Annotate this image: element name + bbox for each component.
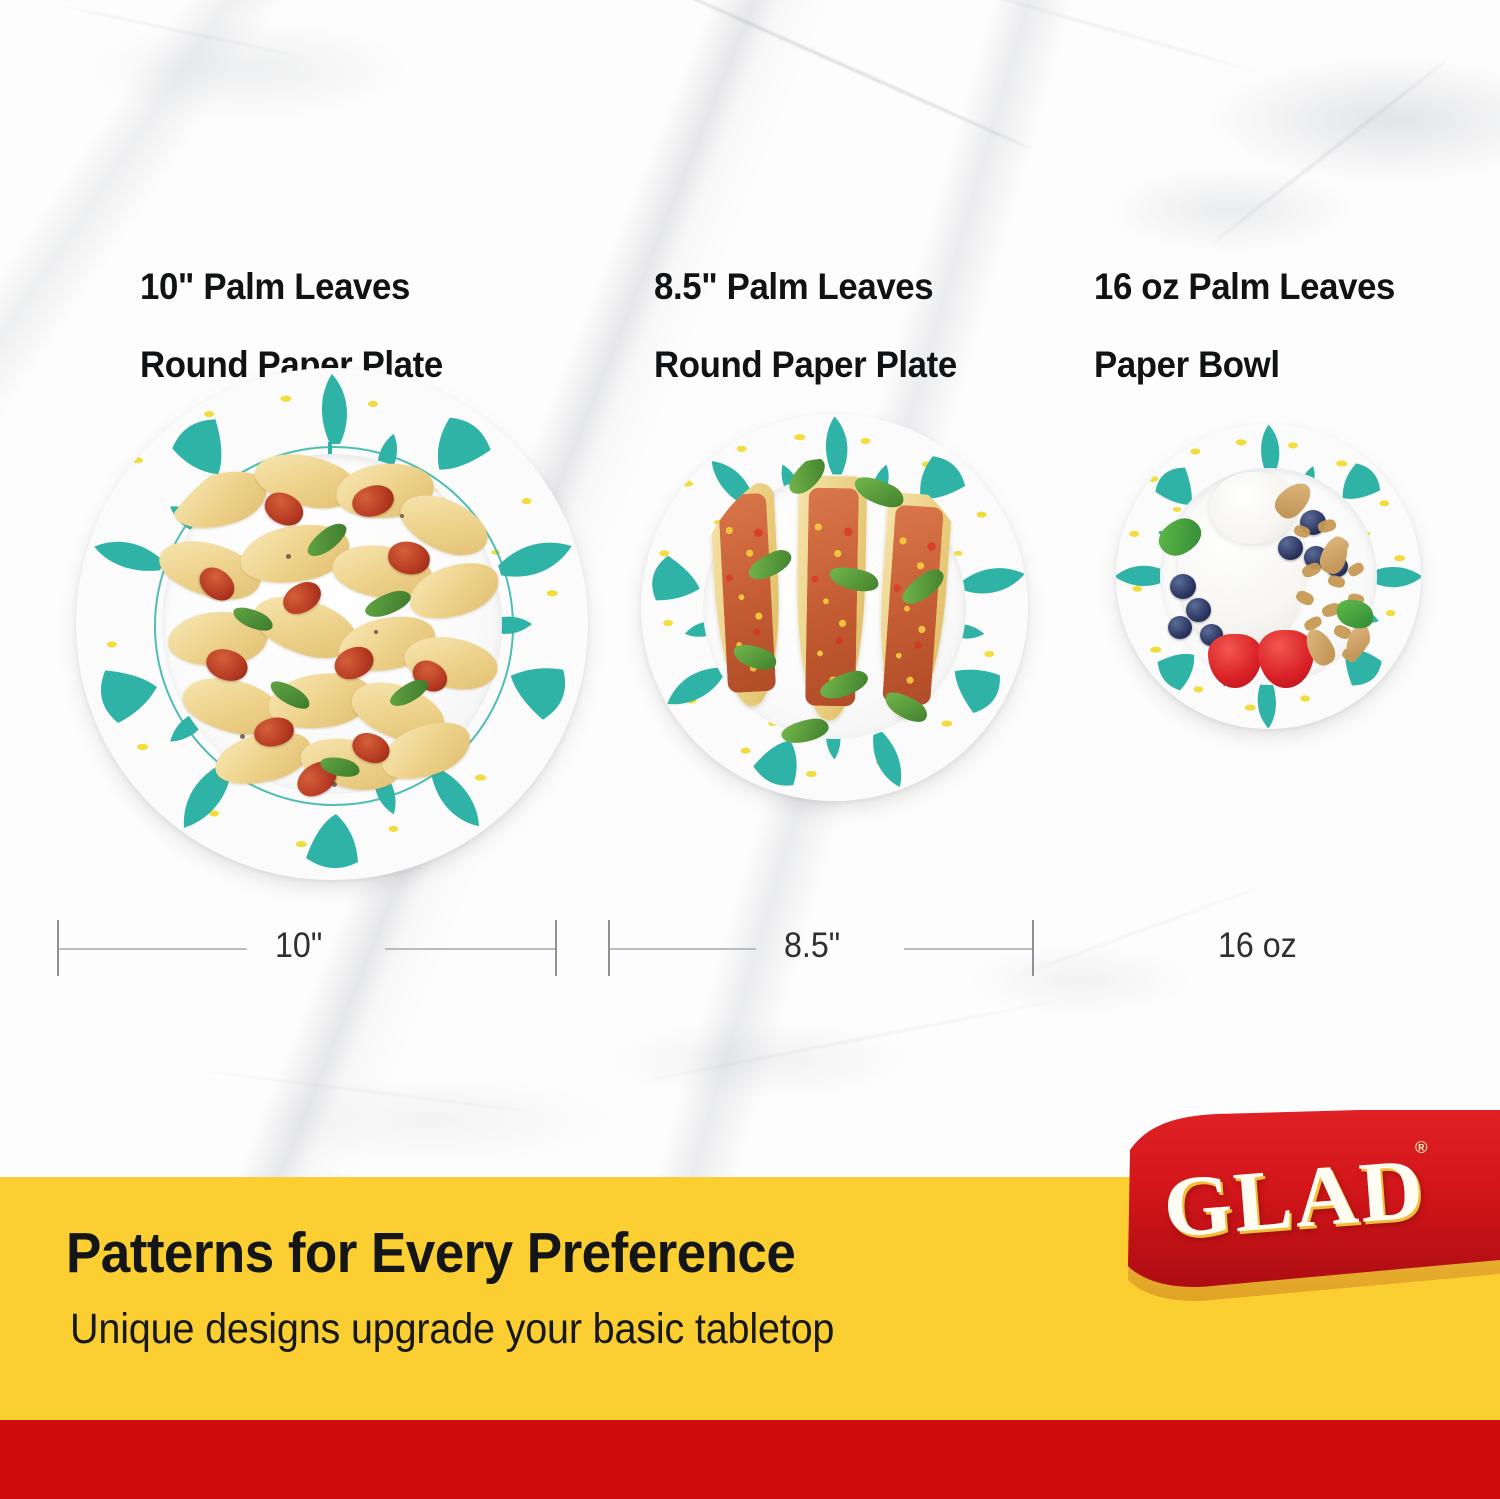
product-title-2-line2: Round Paper Plate (654, 344, 957, 385)
size-ruler-10in: 10" (57, 920, 557, 980)
product-title-3: 16 oz Palm Leaves Paper Bowl (1094, 228, 1395, 384)
product-title-1: 10" Palm Leaves Round Paper Plate (140, 228, 443, 384)
ruler-bar-left-1 (59, 948, 247, 950)
registered-trademark-icon: ® (1415, 1138, 1428, 1158)
food-pasta (136, 434, 528, 820)
product-title-2-line1: 8.5" Palm Leaves (654, 266, 933, 307)
product-title-1-line1: 10" Palm Leaves (140, 266, 410, 307)
product-title-3-line2: Paper Bowl (1094, 344, 1280, 385)
product-title-2: 8.5" Palm Leaves Round Paper Plate (654, 228, 957, 384)
food-yogurt-bowl (1152, 458, 1388, 698)
food-tacos (693, 458, 977, 758)
product-infographic: 10" Palm Leaves Round Paper Plate 8.5" P… (0, 0, 1500, 1499)
product-image-bowl-16oz (1116, 424, 1421, 729)
ruler-bar-left-2 (610, 948, 756, 950)
size-label-8-5in: 8.5" (784, 926, 840, 966)
bottom-red-stripe (0, 1420, 1500, 1499)
product-title-3-line1: 16 oz Palm Leaves (1094, 266, 1395, 307)
banner-title: Patterns for Every Preference (66, 1220, 795, 1286)
product-image-plate-8-5in (641, 414, 1028, 801)
size-ruler-16oz: 16 oz (1218, 920, 1338, 980)
product-headings-row: 10" Palm Leaves Round Paper Plate 8.5" P… (0, 222, 1500, 318)
glad-logo: GLAD ® (1108, 1110, 1500, 1310)
ruler-bar-right-2 (904, 948, 1032, 950)
ruler-bar-right-1 (385, 948, 555, 950)
ruler-cap-right-2 (1032, 920, 1034, 976)
product-image-plate-10in (76, 368, 588, 880)
size-label-10in: 10" (275, 926, 322, 966)
banner-subtitle: Unique designs upgrade your basic tablet… (70, 1305, 834, 1354)
glad-logo-text: GLAD (1160, 1138, 1428, 1258)
size-label-16oz: 16 oz (1218, 926, 1297, 966)
size-ruler-8-5in: 8.5" (608, 920, 1034, 980)
ruler-cap-right-1 (555, 920, 557, 976)
